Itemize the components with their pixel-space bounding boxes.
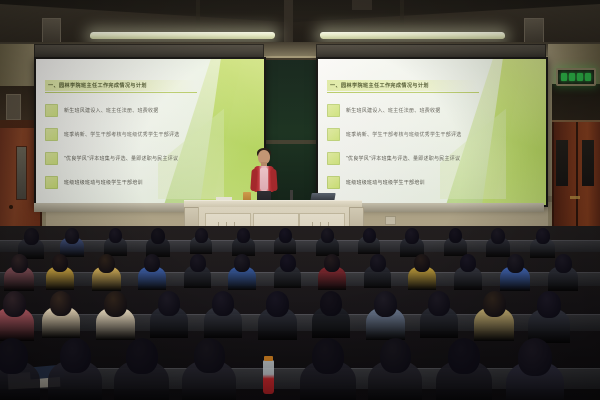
audience-area: [0, 226, 600, 400]
audience-person-head: [414, 254, 430, 272]
presentation-slide: 一、园林学院班主任工作完成情况与计划 新生班风建设入、班主任法册、班费收据 班季…: [36, 59, 264, 205]
audience-person-head: [212, 291, 234, 316]
slide-bullet-item: "优良学风"评本班集与评选、量即述职与民主评议: [327, 151, 490, 166]
wall-outlet-right: [385, 216, 396, 225]
exit-sign-glyph: [569, 73, 575, 81]
audience-person-head: [448, 338, 480, 374]
audience-person-head: [449, 228, 462, 243]
audience-person-head: [483, 291, 506, 317]
screen-surface: 一、园林学院班主任工作完成情况与计划 新生班风建设入、班主任法册、班费收据 班季…: [34, 57, 266, 207]
water-bottle: [263, 360, 274, 394]
audience-person-head: [266, 291, 289, 317]
bullet-marker-icon: [45, 128, 58, 141]
audience-person-head: [363, 228, 376, 243]
presenter-arm-right: [270, 169, 278, 191]
slide-title-highlight: 一、园林学院班主任工作完成情况与计划: [45, 80, 195, 91]
audience-person-head: [194, 338, 225, 373]
audience-person-head: [428, 291, 450, 316]
audience-person-head: [491, 228, 505, 244]
audience-person-head: [11, 254, 28, 273]
water-bottle-cap: [264, 356, 273, 361]
audience-person-head: [370, 254, 386, 272]
slide-bullet-list: 新生班风建设入、班主任法册、班费收据 班季纳新、学生干部考核与班级优秀学生干部评…: [327, 103, 490, 199]
slide-title: 一、园林学院班主任工作完成情况与计划: [45, 82, 147, 89]
audience-person-head: [0, 338, 28, 374]
bullet-text: 班季纳新、学生干部考核与班级优秀学生干部评选: [346, 131, 462, 138]
ceiling-light-left: [90, 32, 275, 39]
wall-panel-right: [552, 84, 600, 123]
door-left-knob[interactable]: [9, 205, 13, 209]
slide-bullet-item: "优良学风"评本班集与评选、量即述职与民主评议: [45, 151, 208, 166]
door-left-glass-panel: [16, 146, 27, 200]
audience-person-head: [279, 228, 292, 243]
audience-person-head: [380, 338, 411, 373]
wall-box-left: [6, 94, 21, 120]
presenter: [247, 150, 281, 206]
bullet-text: 新生班风建设入、班主任法册、班费收据: [64, 107, 159, 114]
bullet-marker-icon: [327, 152, 340, 165]
slide-bullet-list: 新生班风建设入、班主任法册、班费收据 班季纳新、学生干部考核与班级优秀学生干部评…: [45, 103, 208, 199]
slide-title-highlight: 一、园林学院班主任工作完成情况与计划: [327, 80, 477, 91]
presentation-slide: 一、园林学院班主任工作完成情况与计划 新生班风建设入、班主任法册、班费收据 班季…: [318, 59, 546, 205]
audience-person-head: [126, 338, 158, 374]
audience-person-head: [24, 228, 39, 245]
audience-person-head: [234, 254, 250, 272]
audience-person-head: [320, 291, 342, 316]
slide-bullet-item: 班级班级班动与班级学生干部培训: [327, 175, 490, 190]
ceiling-beam-left: [196, 0, 200, 30]
exit-sign-glyph: [585, 73, 591, 81]
slide-bullet-item: 新生班风建设入、班主任法册、班费收据: [45, 103, 208, 118]
bullet-text: "优良学风"评本班集与评选、量即述职与民主评议: [346, 155, 460, 162]
audience-person-head: [98, 254, 115, 273]
ceiling-beam-right: [400, 0, 404, 30]
lecture-hall-photo: 一、园林学院班主任工作完成情况与计划 新生班风建设入、班主任法册、班费收据 班季…: [0, 0, 600, 400]
audience-person-head: [460, 254, 476, 272]
bullet-marker-icon: [45, 176, 58, 189]
audience-person-head: [104, 291, 127, 317]
door-right-glass-left: [556, 140, 568, 186]
exit-sign-glyph: [561, 73, 567, 81]
slide-bullet-item: 班季纳新、学生干部考核与班级优秀学生干部评选: [45, 127, 208, 142]
audience-person-head: [237, 228, 250, 243]
audience-person-head: [324, 254, 340, 272]
audience-person-head: [374, 291, 397, 317]
door-right-glass-right: [582, 140, 594, 186]
slide-bullet-item: 新生班风建设入、班主任法册、班费收据: [327, 103, 490, 118]
slide-bullet-item: 班季纳新、学生干部考核与班级优秀学生干部评选: [327, 127, 490, 142]
slide-title: 一、园林学院班主任工作完成情况与计划: [327, 82, 429, 89]
audience-person-head: [507, 254, 524, 273]
audience-person-head: [518, 338, 552, 376]
exit-sign-glyph: [577, 73, 583, 81]
audience-person-head: [280, 254, 296, 272]
audience-person-head: [52, 254, 68, 272]
bullet-marker-icon: [327, 176, 340, 189]
audience-person-head: [60, 338, 91, 373]
bullet-marker-icon: [327, 104, 340, 117]
slide-title-underline: [45, 92, 197, 93]
slide-bullet-item: 班级班级班动与班级学生干部培训: [45, 175, 208, 190]
audience-person-head: [3, 291, 26, 317]
audience-person-head: [65, 228, 79, 244]
audience-person-head: [190, 254, 206, 272]
audience-person-head: [321, 228, 334, 243]
audience-person-head: [195, 228, 208, 243]
exit-sign: [556, 68, 596, 86]
audience-person-head: [312, 338, 344, 374]
slide-title-underline: [327, 92, 479, 93]
audience-person-head: [109, 228, 122, 243]
audience-person-head: [144, 254, 160, 272]
bullet-text: 班季纳新、学生干部考核与班级优秀学生干部评选: [64, 131, 180, 138]
bullet-marker-icon: [45, 104, 58, 117]
ceiling-beam-center: [284, 0, 293, 44]
audience-person-head: [151, 228, 165, 244]
audience-person-head: [405, 228, 419, 244]
audience-person-head: [555, 254, 572, 273]
door-right-seam: [576, 122, 578, 234]
presenter-inner-top: [260, 168, 268, 190]
screen-surface: 一、园林学院班主任工作完成情况与计划 新生班风建设入、班主任法册、班费收据 班季…: [316, 57, 548, 207]
desk-row: [0, 240, 600, 252]
projector: [352, 0, 372, 10]
bullet-text: 新生班风建设入、班主任法册、班费收据: [346, 107, 441, 114]
audience-person-head: [537, 291, 561, 318]
audience-person-head: [536, 228, 550, 244]
door-right-handle[interactable]: [570, 196, 580, 199]
bullet-marker-icon: [45, 152, 58, 165]
audience-person-head: [50, 291, 72, 316]
bullet-text: 班级班级班动与班级学生干部培训: [64, 179, 143, 186]
bullet-text: 班级班级班动与班级学生干部培训: [346, 179, 425, 186]
ceiling-light-right: [320, 32, 505, 39]
bullet-text: "优良学风"评本班集与评选、量即述职与民主评议: [64, 155, 178, 162]
bullet-marker-icon: [327, 128, 340, 141]
audience-person-head: [158, 291, 180, 316]
